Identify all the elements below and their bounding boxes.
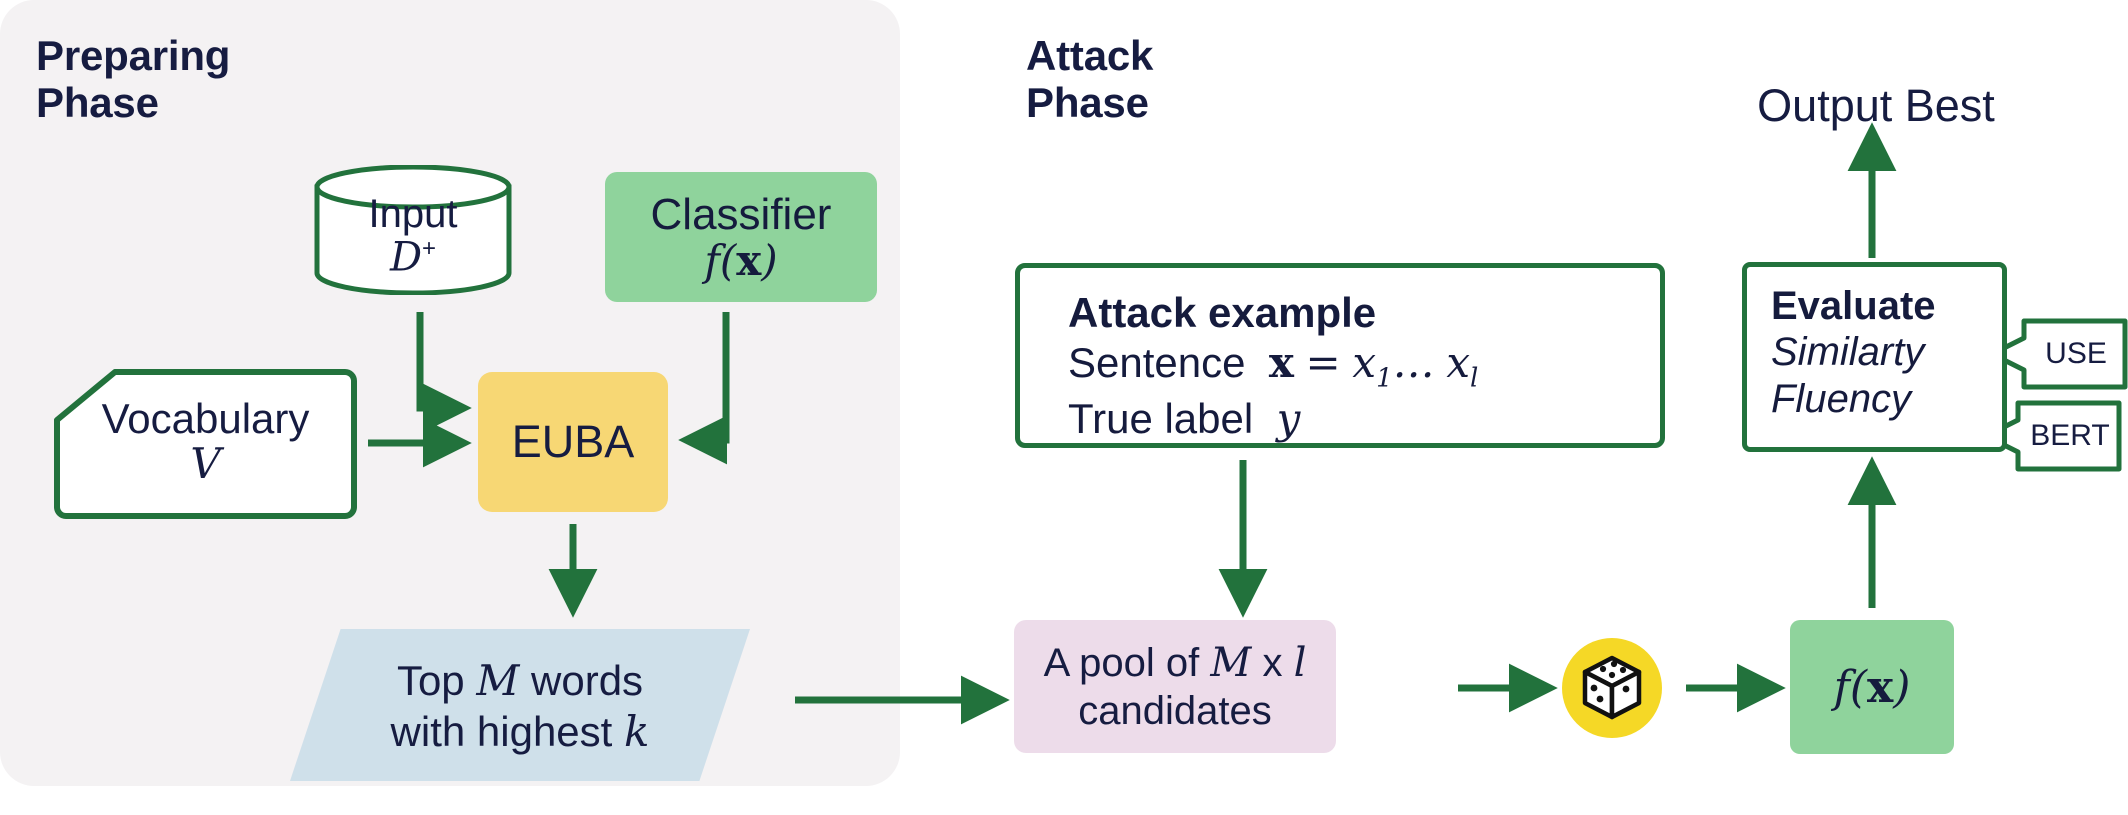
victim-model-formula: f(x) [1834,662,1911,713]
attack-phase-heading: Attack Phase [1026,32,1153,126]
top-words-text: Top M words with highest k [290,655,750,757]
top-words-line1: Top M words [290,655,750,706]
vocabulary-box[interactable]: Vocabulary V [53,368,358,520]
top-words-shape[interactable]: Top M words with highest k [290,629,750,781]
attack-example-sentence: Sentence x = x1… xl [1068,338,1660,395]
use-tag-label: USE [2026,318,2126,390]
input-cylinder: Input D+ [312,165,514,295]
attack-example-true-label: True label y [1068,394,1660,444]
dice-icon [1580,654,1644,722]
pool-line2: candidates [1078,687,1271,735]
arrow-input-to-euba [420,312,462,408]
dice-icon-badge[interactable] [1562,638,1662,738]
input-cylinder-text: Input D+ [312,193,514,280]
preparing-phase-heading: Preparing Phase [36,32,230,126]
evaluate-metric-fluency: Fluency [1771,376,2002,422]
use-tag-arrow[interactable]: USE [1988,318,2128,390]
classifier-box[interactable]: Classifier f(x) [605,172,877,302]
vocabulary-symbol: V [53,441,358,486]
evaluate-metric-similarity: Similarty [1771,329,2002,375]
evaluate-title: Evaluate [1771,283,2002,329]
pool-line1: A pool of M x l [1044,639,1307,687]
euba-box[interactable]: EUBA [478,372,668,512]
classifier-formula: f(x) [704,238,777,283]
classifier-label: Classifier [651,191,832,239]
bert-tag-label: BERT [2020,400,2120,472]
victim-model-box[interactable]: f(x) [1790,620,1954,754]
input-symbol: D+ [312,236,514,280]
candidate-pool-box[interactable]: A pool of M x l candidates [1014,620,1336,753]
arrow-classifier-to-euba [688,312,726,440]
output-best-label: Output Best [1726,80,2026,132]
vocabulary-text: Vocabulary V [53,396,358,487]
top-words-line2: with highest k [290,706,750,757]
euba-label: EUBA [512,416,635,468]
attack-example-box[interactable]: Attack example Sentence x = x1… xl True … [1015,263,1665,448]
evaluate-box[interactable]: Evaluate Similarty Fluency [1742,262,2007,452]
attack-example-title: Attack example [1068,288,1660,338]
input-label: Input [312,193,514,236]
diagram-canvas: Preparing Phase Input D+ Classifier f(x)… [0,0,2128,815]
vocabulary-label: Vocabulary [53,396,358,441]
